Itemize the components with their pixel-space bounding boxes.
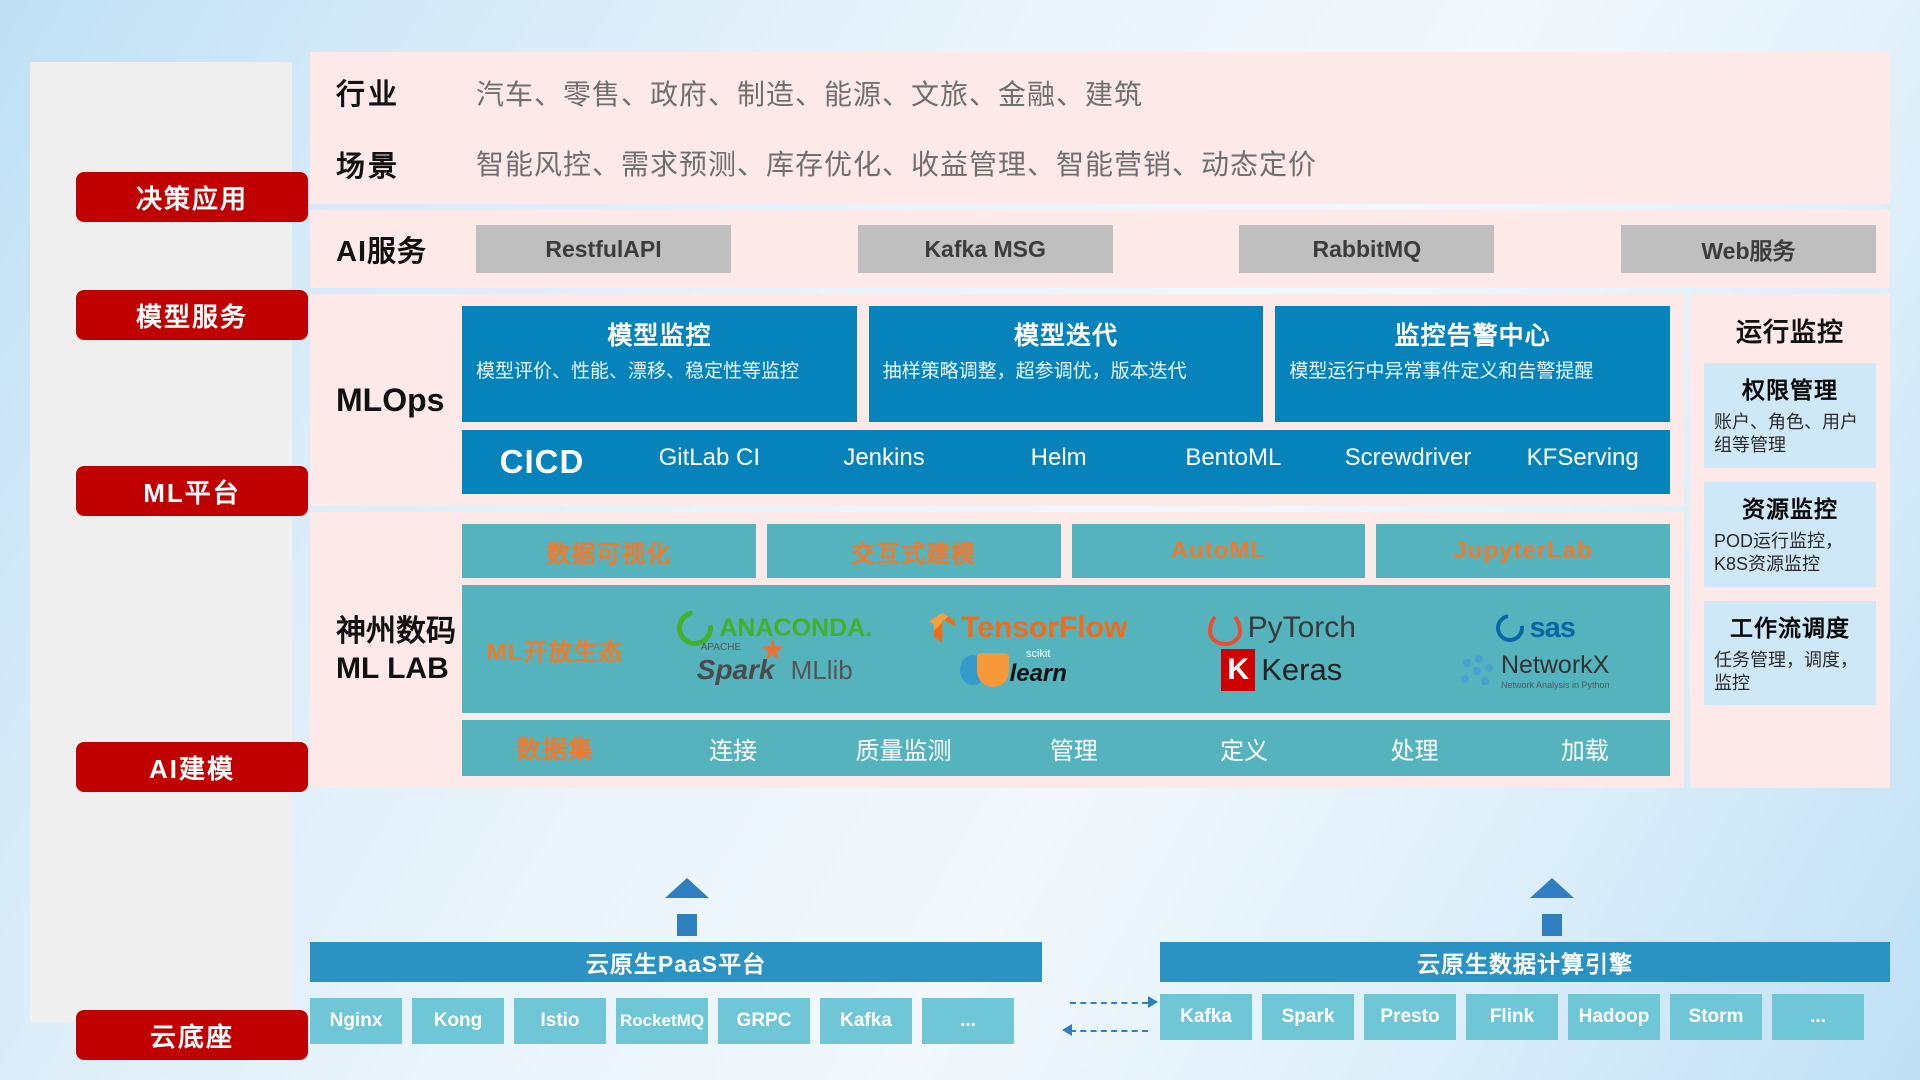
card-title: 工作流调度 <box>1714 609 1866 643</box>
rail-item-model-service[interactable]: 模型服务 <box>76 290 308 340</box>
apache-label: APACHE <box>701 642 741 653</box>
card-title: 监控告警中心 <box>1289 316 1656 352</box>
rail-item-cloud-base[interactable]: 云底座 <box>76 1010 308 1060</box>
card-title: 模型迭代 <box>883 316 1250 352</box>
mlops-body: 模型监控 模型评价、性能、漂移、稳定性等监控 模型迭代 抽样策略调整，超参调优，… <box>462 306 1670 494</box>
pytorch-wordmark: PyTorch <box>1248 611 1356 645</box>
keras-wordmark: Keras <box>1261 652 1342 688</box>
chip-rocketmq[interactable]: RocketMQ <box>616 998 708 1044</box>
sas-ring-icon <box>1490 609 1529 648</box>
monitor-card-permission[interactable]: 权限管理 账户、角色、用户组等管理 <box>1704 363 1876 468</box>
industry-scenario-labels: 行业 场景 <box>336 71 476 185</box>
industry-scenario-band: 行业 场景 汽车、零售、政府、制造、能源、文旅、金融、建筑 智能风控、需求预测、… <box>310 52 1890 204</box>
tensorflow-logo: TensorFlow <box>929 611 1127 645</box>
ai-service-boxes: RestfulAPI Kafka MSG RabbitMQ Web服务 <box>476 225 1890 273</box>
dataset-item-process[interactable]: 处理 <box>1329 731 1499 766</box>
chip-spark[interactable]: Spark <box>1262 994 1354 1040</box>
scenario-value: 智能风控、需求预测、库存优化、收益管理、智能营销、动态定价 <box>476 143 1317 183</box>
dataset-items: 连接 质量监测 管理 定义 处理 加载 <box>648 731 1670 766</box>
chip-kafka[interactable]: Kafka <box>820 998 912 1044</box>
paas-chips: Nginx Kong Istio RocketMQ GRPC Kafka ... <box>310 998 1042 1044</box>
chip-hadoop[interactable]: Hadoop <box>1568 994 1660 1040</box>
rail-item-ml-platform[interactable]: ML平台 <box>76 466 308 516</box>
engine-bar[interactable]: 云原生数据计算引擎 <box>1160 942 1890 982</box>
chip-kafka-engine[interactable]: Kafka <box>1160 994 1252 1040</box>
pytorch-logo: PyTorch <box>1208 610 1356 646</box>
card-title: 模型监控 <box>476 316 843 352</box>
spark-wordmark: Spark <box>697 654 775 685</box>
dataset-item-connect[interactable]: 连接 <box>648 731 818 766</box>
monitor-card-workflow[interactable]: 工作流调度 任务管理，调度，监控 <box>1704 601 1876 706</box>
modeling-body: 数据可视化 交互式建模 AutoML JupyterLab ML开放生态 ANA… <box>462 524 1670 776</box>
keras-logo: K Keras <box>1221 649 1342 691</box>
cloud-base-section: 云原生PaaS平台 云原生数据计算引擎 Nginx Kong Istio Roc… <box>310 890 1890 1040</box>
industry-scenario-values: 汽车、零售、政府、制造、能源、文旅、金融、建筑 智能风控、需求预测、库存优化、收… <box>476 73 1317 183</box>
tile-jupyterlab[interactable]: JupyterLab <box>1376 524 1670 578</box>
mlops-cards: 模型监控 模型评价、性能、漂移、稳定性等监控 模型迭代 抽样策略调整，超参调优，… <box>462 306 1670 422</box>
main-column: 行业 场景 汽车、零售、政府、制造、能源、文旅、金融、建筑 智能风控、需求预测、… <box>310 52 1890 788</box>
cicd-bar: CICD GitLab CI Jenkins Helm BentoML Scre… <box>462 430 1670 494</box>
cicd-item-bentoml[interactable]: BentoML <box>1146 445 1321 479</box>
cicd-item-jenkins[interactable]: Jenkins <box>797 445 972 479</box>
industry-value: 汽车、零售、政府、制造、能源、文旅、金融、建筑 <box>476 73 1317 113</box>
chip-paas-more[interactable]: ... <box>922 998 1014 1044</box>
scenario-label: 场景 <box>336 143 476 185</box>
dashed-arrow-right-icon <box>1148 996 1158 1008</box>
tile-automl[interactable]: AutoML <box>1072 524 1366 578</box>
modeling-label-line2: ML LAB <box>336 650 456 688</box>
cicd-title: CICD <box>462 443 622 481</box>
dataset-bar: 数据集 连接 质量监测 管理 定义 处理 加载 <box>462 720 1670 776</box>
dataset-item-quality-monitor[interactable]: 质量监测 <box>818 731 988 766</box>
cicd-items: GitLab CI Jenkins Helm BentoML Screwdriv… <box>622 445 1670 479</box>
card-desc: POD运行监控，K8S资源监控 <box>1714 530 1866 577</box>
chip-kong[interactable]: Kong <box>412 998 504 1044</box>
ai-service-box-web-service[interactable]: Web服务 <box>1621 225 1876 273</box>
ai-service-label: AI服务 <box>336 228 476 270</box>
rail-label: 云底座 <box>150 1017 234 1054</box>
cicd-item-helm[interactable]: Helm <box>971 445 1146 479</box>
rail-label: ML平台 <box>143 473 241 510</box>
anaconda-logo: ANACONDA. <box>677 610 872 646</box>
dashed-arrow-left-icon <box>1062 1024 1072 1036</box>
networkx-logo: NetworkX Network Analysis in Python <box>1461 651 1610 690</box>
rail-item-ai-modeling[interactable]: AI建模 <box>76 742 308 792</box>
sas-logo: sas <box>1496 612 1575 645</box>
tensorflow-wordmark: TensorFlow <box>961 611 1127 645</box>
rail-label: 决策应用 <box>136 179 248 216</box>
networkx-subtitle: Network Analysis in Python <box>1501 680 1610 690</box>
modeling-label: 神州数码 ML LAB <box>336 524 462 776</box>
card-title: 资源监控 <box>1714 490 1866 524</box>
rail-label: 模型服务 <box>136 297 248 334</box>
ai-service-band: AI服务 RestfulAPI Kafka MSG RabbitMQ Web服务 <box>310 210 1890 288</box>
pytorch-flame-icon <box>1208 610 1242 646</box>
mlops-card-alert-center[interactable]: 监控告警中心 模型运行中异常事件定义和告警提醒 <box>1275 306 1670 422</box>
ml-ecosystem-band: ML开放生态 ANACONDA. TensorFlow <box>462 585 1670 713</box>
diagram-canvas: 决策应用 模型服务 ML平台 AI建模 云底座 行业 场景 汽车、零售、政府、制… <box>0 0 1920 1080</box>
chip-grpc[interactable]: GRPC <box>718 998 810 1044</box>
mllib-wordmark: MLlib <box>791 655 853 686</box>
modeling-tiles: 数据可视化 交互式建模 AutoML JupyterLab <box>462 524 1670 578</box>
modeling-label-line1: 神州数码 <box>336 613 456 651</box>
platform-section: MLOps 模型监控 模型评价、性能、漂移、稳定性等监控 模型迭代 抽样策略调整… <box>310 294 1890 788</box>
chip-engine-more[interactable]: ... <box>1772 994 1864 1040</box>
arrow-up-engine-icon <box>1530 878 1574 920</box>
ml-ecosystem-logos: ANACONDA. TensorFlow PyTorch <box>648 607 1670 691</box>
scikit-label: scikit <box>1010 648 1067 660</box>
mlops-label: MLOps <box>336 306 462 494</box>
card-desc: 模型评价、性能、漂移、稳定性等监控 <box>476 360 843 384</box>
mlops-card-model-iteration[interactable]: 模型迭代 抽样策略调整，超参调优，版本迭代 <box>869 306 1264 422</box>
card-title: 权限管理 <box>1714 371 1866 405</box>
card-desc: 任务管理，调度，监控 <box>1714 649 1866 696</box>
card-desc: 账户、角色、用户组等管理 <box>1714 411 1866 458</box>
rail-label: AI建模 <box>149 749 235 786</box>
mlops-band: MLOps 模型监控 模型评价、性能、漂移、稳定性等监控 模型迭代 抽样策略调整… <box>310 294 1684 506</box>
monitor-card-resource[interactable]: 资源监控 POD运行监控，K8S资源监控 <box>1704 482 1876 587</box>
networkx-wordmark: NetworkX <box>1501 651 1610 680</box>
cicd-item-screwdriver[interactable]: Screwdriver <box>1321 445 1496 479</box>
ai-service-box-rabbitmq[interactable]: RabbitMQ <box>1239 225 1494 273</box>
cicd-item-kfserving[interactable]: KFServing <box>1495 445 1670 479</box>
sas-wordmark: sas <box>1530 612 1575 645</box>
ml-ecosystem-label: ML开放生态 <box>462 632 648 667</box>
dataset-label: 数据集 <box>462 730 648 766</box>
learn-wordmark: learn <box>1010 660 1067 688</box>
card-desc: 模型运行中异常事件定义和告警提醒 <box>1289 360 1656 384</box>
paas-bar[interactable]: 云原生PaaS平台 <box>310 942 1042 982</box>
left-rail: 决策应用 模型服务 ML平台 AI建模 云底座 <box>30 62 292 1022</box>
chip-nginx[interactable]: Nginx <box>310 998 402 1044</box>
cicd-item-gitlab-ci[interactable]: GitLab CI <box>622 445 797 479</box>
tile-data-visualization[interactable]: 数据可视化 <box>462 524 756 578</box>
monitor-rail-title: 运行监控 <box>1704 312 1876 349</box>
modeling-band: 神州数码 ML LAB 数据可视化 交互式建模 AutoML JupyterLa… <box>310 512 1684 788</box>
networkx-graph-icon <box>1461 655 1495 685</box>
chip-storm[interactable]: Storm <box>1670 994 1762 1040</box>
keras-k-icon: K <box>1221 649 1255 691</box>
ai-service-box-kafka-msg[interactable]: Kafka MSG <box>858 225 1113 273</box>
engine-chips: Kafka Spark Presto Flink Hadoop Storm ..… <box>1160 994 1890 1040</box>
spark-mllib-logo: APACHE Spark MLlib <box>697 654 853 686</box>
anaconda-wordmark: ANACONDA. <box>719 614 872 643</box>
dataset-item-define[interactable]: 定义 <box>1159 731 1329 766</box>
dataset-item-load[interactable]: 加载 <box>1500 731 1670 766</box>
monitor-rail: 运行监控 权限管理 账户、角色、用户组等管理 资源监控 POD运行监控，K8S资… <box>1690 294 1890 788</box>
chip-presto[interactable]: Presto <box>1364 994 1456 1040</box>
chip-flink[interactable]: Flink <box>1466 994 1558 1040</box>
mlops-card-model-monitoring[interactable]: 模型监控 模型评价、性能、漂移、稳定性等监控 <box>462 306 857 422</box>
industry-label: 行业 <box>336 71 476 113</box>
card-desc: 抽样策略调整，超参调优，版本迭代 <box>883 360 1250 384</box>
arrow-up-paas-icon <box>665 878 709 920</box>
dataset-item-manage[interactable]: 管理 <box>989 731 1159 766</box>
tensorflow-mark-icon <box>929 613 955 643</box>
tile-interactive-modeling[interactable]: 交互式建模 <box>767 524 1061 578</box>
rail-item-decision-app[interactable]: 决策应用 <box>76 172 308 222</box>
chip-istio[interactable]: Istio <box>514 998 606 1044</box>
scikit-learn-logo: scikit learn <box>960 650 1097 690</box>
dashed-connector-right <box>1070 1002 1148 1004</box>
ai-service-box-restfulapi[interactable]: RestfulAPI <box>476 225 731 273</box>
dashed-connector-left <box>1070 1030 1148 1032</box>
